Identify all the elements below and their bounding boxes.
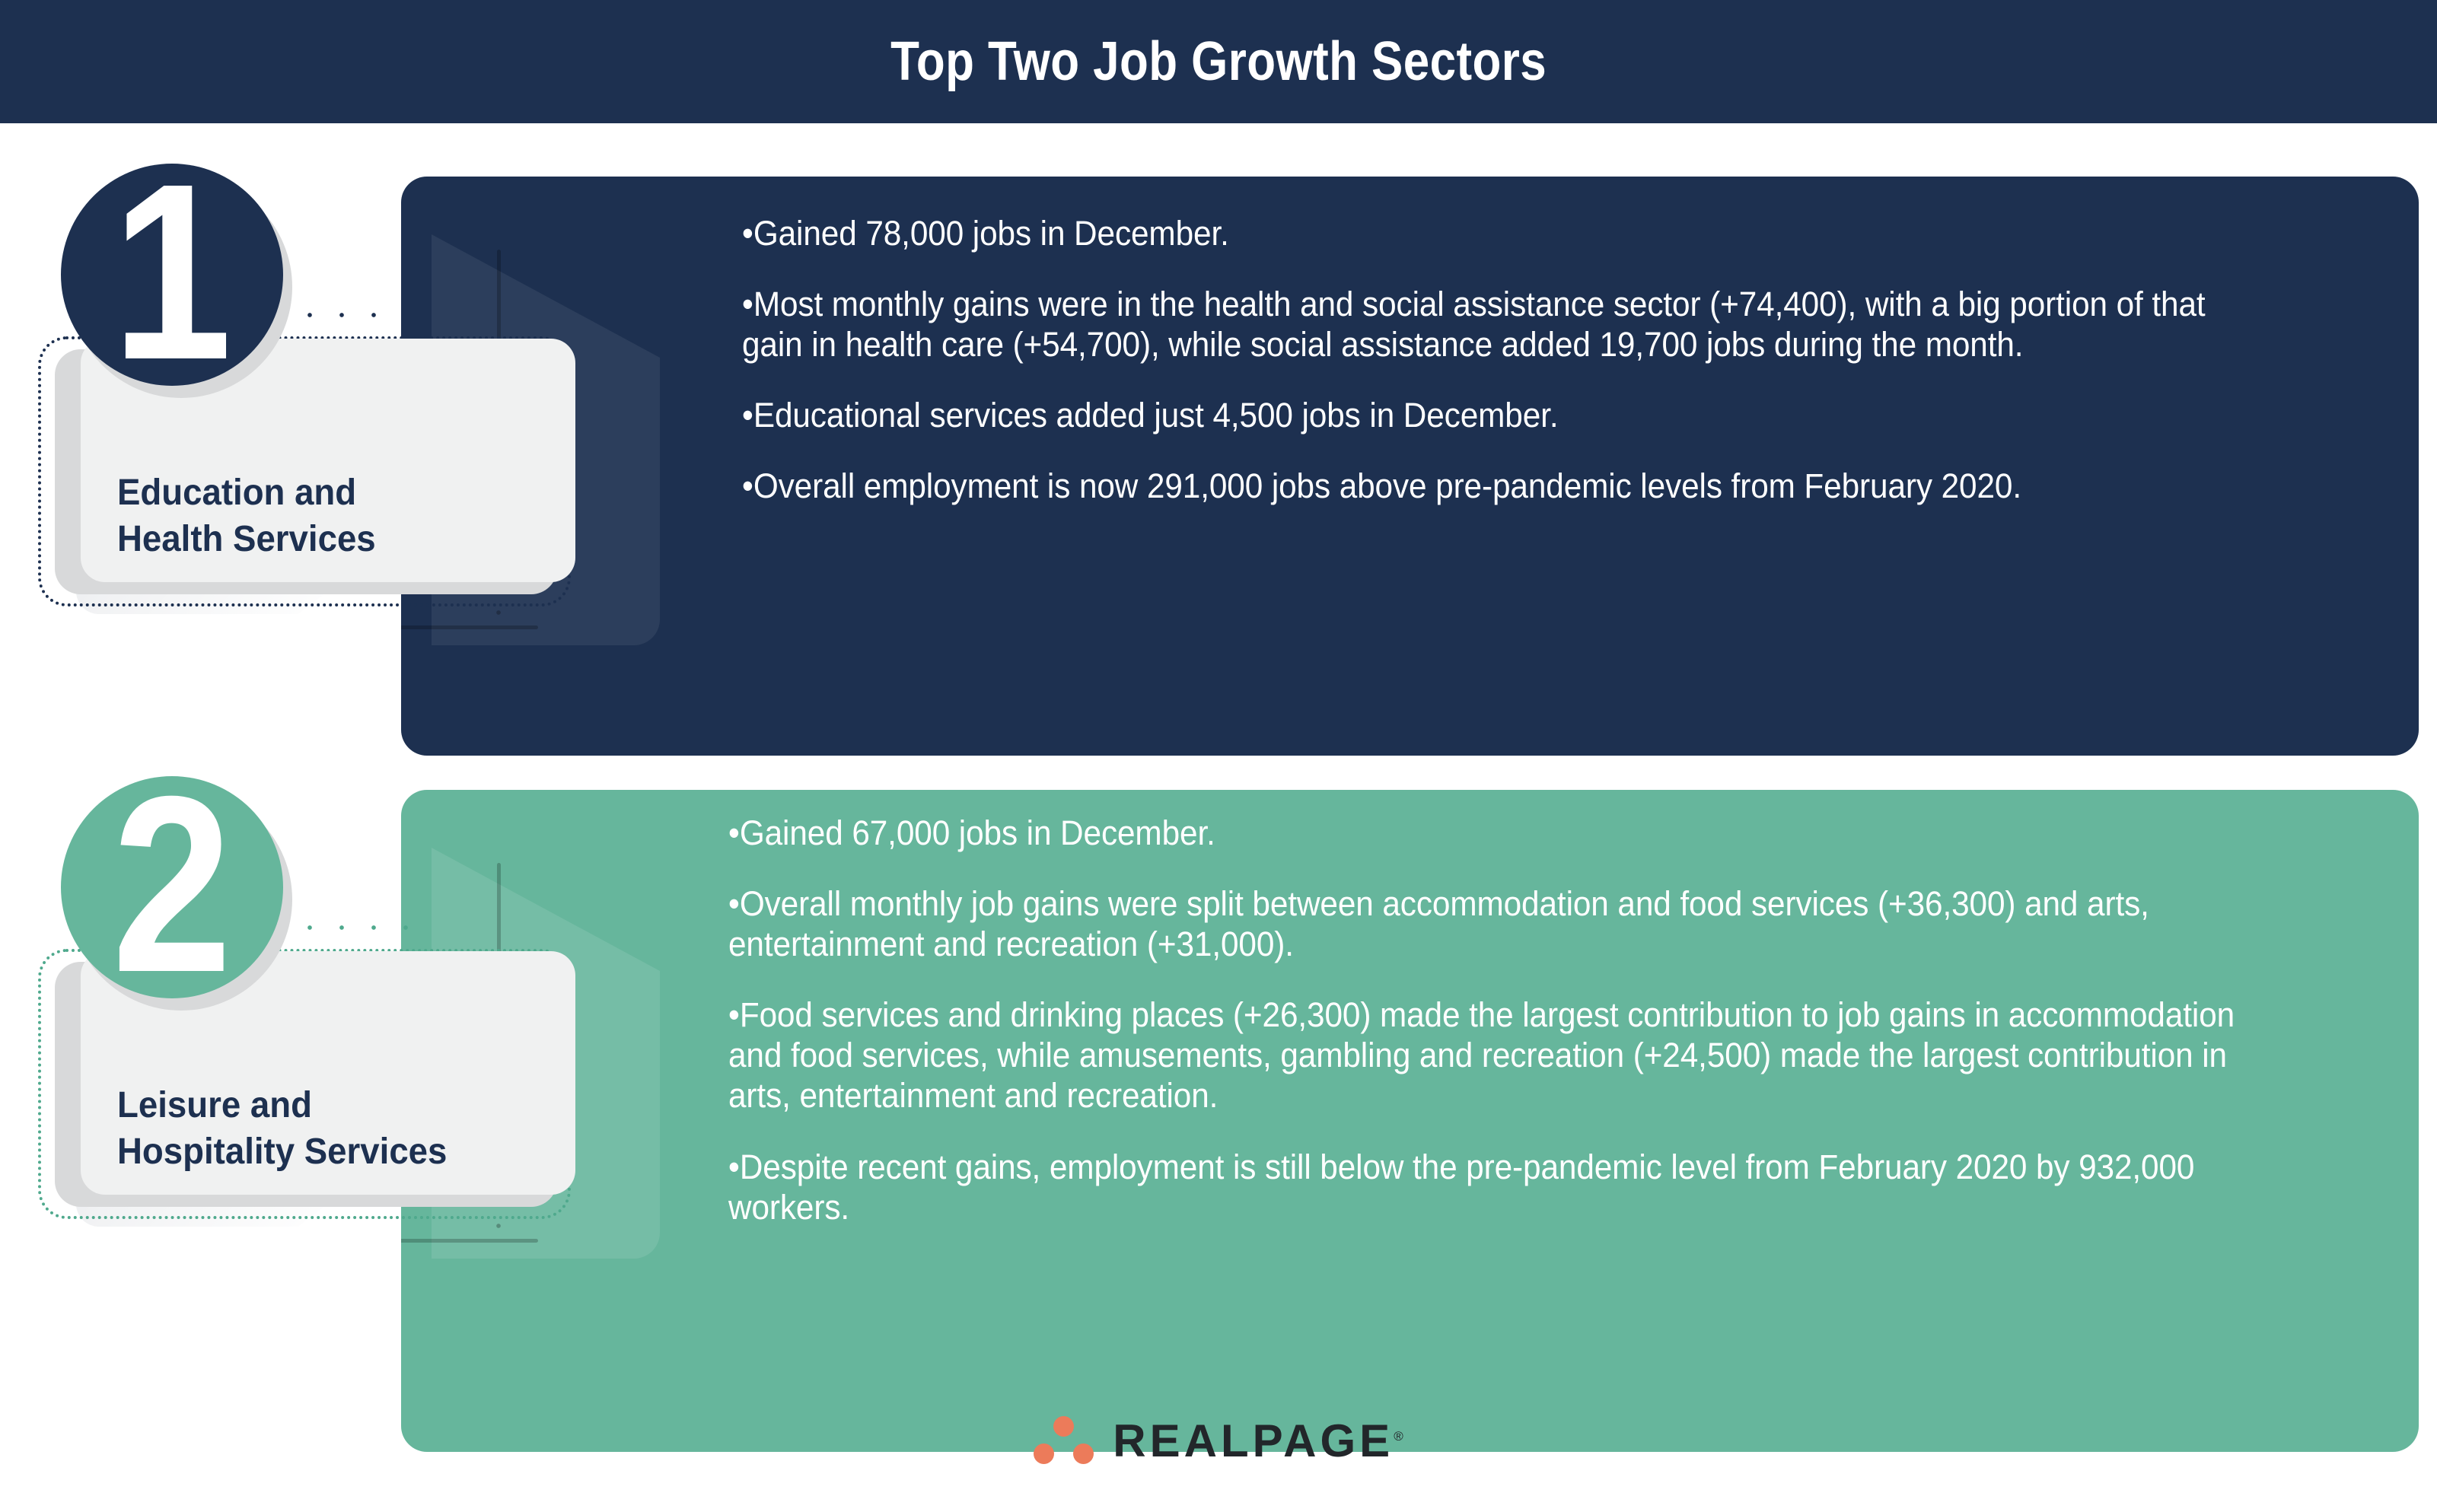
dotted-connector-icon (294, 925, 408, 931)
list-item-text: Most monthly gains were in the health an… (742, 285, 2206, 364)
list-item: •Food services and drinking places (+26,… (728, 995, 2288, 1116)
section-1-label: Education and Health Services (117, 470, 376, 562)
infographic-body: •Gained 78,000 jobs in December. •Most m… (0, 123, 2437, 1512)
page-title: Top Two Job Growth Sectors (890, 30, 1547, 93)
section-1-content-panel: •Gained 78,000 jobs in December. •Most m… (401, 177, 2419, 756)
list-item-text: Overall employment is now 291,000 jobs a… (753, 466, 2021, 505)
bullet-marker-icon: • (742, 396, 753, 435)
list-item-text: Food services and drinking places (+26,3… (728, 995, 2235, 1115)
page-footer: REALPAGE® (0, 1399, 2437, 1482)
bullet-marker-icon: • (728, 884, 740, 923)
section-2-badge: Leisure and Hospitality Services 2 (0, 770, 685, 1257)
list-item: •Most monthly gains were in the health a… (742, 284, 2273, 364)
list-item: •Overall monthly job gains were split be… (728, 883, 2288, 964)
realpage-logo: REALPAGE® (1034, 1413, 1403, 1468)
list-item-text: Despite recent gains, employment is stil… (728, 1148, 2194, 1227)
section-1-bullet-list: •Gained 78,000 jobs in December. •Most m… (742, 213, 2371, 506)
list-item: •Despite recent gains, employment is sti… (728, 1147, 2288, 1227)
dotted-connector-icon (294, 312, 408, 318)
section-2-content-panel: •Gained 67,000 jobs in December. •Overal… (401, 790, 2419, 1452)
bullet-marker-icon: • (742, 285, 753, 323)
badge-circle (61, 164, 283, 386)
section-2-bullet-list: •Gained 67,000 jobs in December. •Overal… (728, 813, 2388, 1227)
badge-circle (61, 776, 283, 998)
list-item-text: Educational services added just 4,500 jo… (753, 396, 1559, 435)
list-item: •Educational services added just 4,500 j… (742, 395, 2273, 435)
page-header: Top Two Job Growth Sectors (0, 0, 2437, 123)
logo-dot-top (1053, 1416, 1074, 1437)
logo-dot-left (1034, 1444, 1054, 1464)
list-item-text: Gained 78,000 jobs in December. (753, 214, 1229, 253)
bullet-marker-icon: • (742, 466, 753, 505)
realpage-wordmark: REALPAGE® (1113, 1415, 1403, 1467)
bullet-marker-icon: • (742, 214, 753, 253)
section-2-label: Leisure and Hospitality Services (117, 1083, 447, 1175)
bullet-marker-icon: • (728, 813, 740, 852)
realpage-wordmark-text: REALPAGE (1113, 1415, 1394, 1466)
bullet-marker-icon: • (728, 995, 740, 1034)
section-1-badge: Education and Health Services 1 (0, 158, 685, 629)
registered-trademark-icon: ® (1394, 1429, 1403, 1444)
list-item: •Gained 67,000 jobs in December. (728, 813, 2288, 853)
bullet-marker-icon: • (728, 1148, 740, 1186)
list-item-text: Gained 67,000 jobs in December. (740, 813, 1215, 852)
realpage-dots-icon (1034, 1413, 1093, 1468)
list-item: •Gained 78,000 jobs in December. (742, 213, 2273, 253)
list-item-text: Overall monthly job gains were split bet… (728, 884, 2149, 963)
list-item: •Overall employment is now 291,000 jobs … (742, 466, 2273, 506)
logo-dot-right (1073, 1444, 1094, 1464)
